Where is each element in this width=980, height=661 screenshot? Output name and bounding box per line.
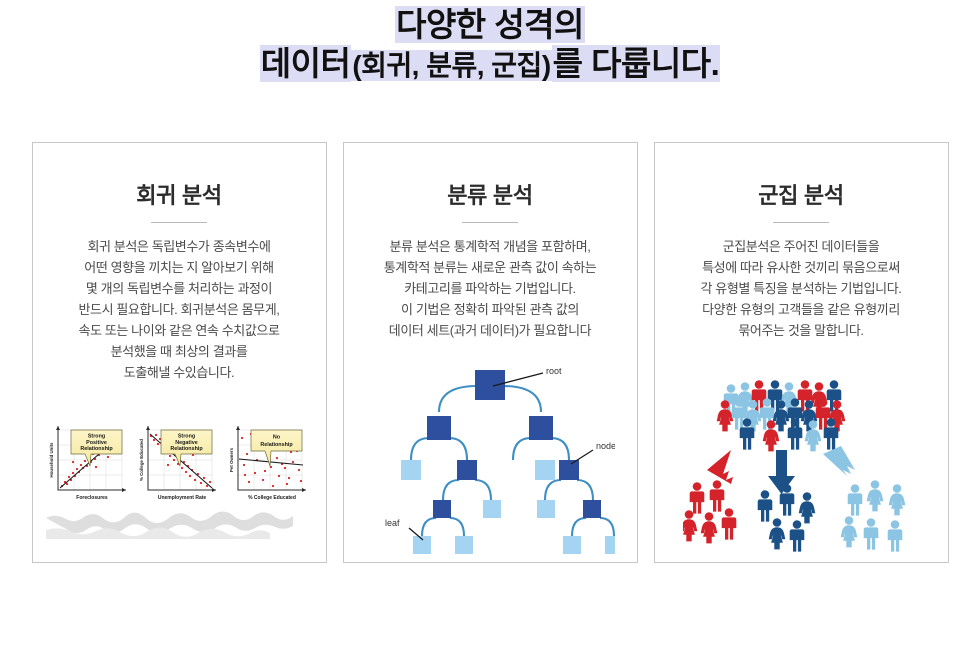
- title-line-2-suffix: 를 다룹니다.: [552, 45, 721, 82]
- svg-text:Positive: Positive: [86, 440, 107, 446]
- svg-text:Negative: Negative: [175, 440, 197, 446]
- card-body-regression: 회귀 분석은 독립변수가 종속변수에 어떤 영향을 끼치는 지 알아보기 위해 …: [64, 236, 293, 383]
- tree-node: [433, 500, 451, 518]
- arrow-red: [707, 450, 733, 484]
- tree-leaf: [455, 536, 473, 554]
- title-line-1: 다양한 성격의: [0, 6, 980, 45]
- tree-node: [457, 460, 477, 480]
- title-line-1-text: 다양한 성격의: [395, 6, 585, 43]
- card-classification-analysis: 분류 분석 분류 분석은 통계학적 개념을 포함하며, 통계학적 분류는 새로운…: [343, 142, 638, 563]
- tree-root-node: [475, 370, 505, 400]
- tree-leaf: [537, 500, 555, 518]
- card-title-cluster: 군집 분석: [758, 178, 844, 210]
- decision-tree-svg: root node leaf: [365, 360, 615, 558]
- title-line-2-parenthetical: (회귀, 분류, 군집): [351, 50, 551, 81]
- tree-node: [583, 500, 601, 518]
- card-divider: [773, 222, 829, 223]
- tree-label-root: root: [546, 366, 562, 376]
- mixed-crowd-group: [717, 380, 846, 451]
- card-divider: [151, 222, 207, 223]
- regression-scatter-plots-figure: Strong Positive Relationship Foreclosure…: [33, 410, 326, 552]
- arrow-light-blue: [823, 446, 855, 476]
- cluster-arrows: [707, 446, 855, 494]
- cluster-light-blue-group: [841, 480, 906, 551]
- tree-node: [427, 416, 451, 440]
- svg-text:Relationship: Relationship: [80, 446, 113, 452]
- cluster-people-svg: [683, 358, 919, 558]
- tree-node: [529, 416, 553, 440]
- tree-node: [559, 460, 579, 480]
- cluster-dark-blue-group: [758, 484, 816, 551]
- title-line-2-data-word: 데이터: [260, 45, 352, 82]
- svg-text:Relationship: Relationship: [260, 442, 293, 448]
- tree-nodes: [427, 370, 601, 518]
- decision-tree-figure: root node leaf: [344, 360, 637, 558]
- svg-text:% College Educated: % College Educated: [139, 439, 144, 481]
- card-cluster-analysis: 군집 분석 군집분석은 주어진 데이터들을 특성에 따라 유사한 것끼리 묶음으…: [654, 142, 949, 563]
- svg-text:Strong: Strong: [88, 434, 105, 440]
- tree-label-node: node: [596, 441, 615, 451]
- cluster-red-group: [683, 480, 736, 543]
- svg-text:Household Units: Household Units: [49, 442, 54, 477]
- svg-text:% College Educated: % College Educated: [248, 495, 296, 501]
- card-divider: [462, 222, 518, 223]
- cluster-people-figure: [655, 358, 948, 558]
- svg-text:Relationship: Relationship: [170, 446, 203, 452]
- card-regression-analysis: 회귀 분석 회귀 분석은 독립변수가 종속변수에 어떤 영향을 끼치는 지 알아…: [32, 142, 327, 563]
- tree-leaf: [535, 460, 555, 480]
- tree-label-leaf: leaf: [385, 518, 400, 528]
- card-body-cluster: 군집분석은 주어진 데이터들을 특성에 따라 유사한 것끼리 묶음으로써 각 유…: [686, 236, 915, 341]
- title-line-2: 데이터(회귀, 분류, 군집)를 다룹니다.: [0, 45, 980, 84]
- analysis-cards-row: 회귀 분석 회귀 분석은 독립변수가 종속변수에 어떤 영향을 끼치는 지 알아…: [0, 142, 980, 564]
- svg-text:Strong: Strong: [178, 434, 195, 440]
- svg-text:Unemployment Rate: Unemployment Rate: [158, 495, 207, 501]
- card-title-regression: 회귀 분석: [136, 178, 222, 210]
- tree-leaf: [483, 500, 501, 518]
- regression-scatter-svg: Strong Positive Relationship Foreclosure…: [38, 410, 320, 552]
- page-title: 다양한 성격의 데이터(회귀, 분류, 군집)를 다룹니다.: [0, 0, 980, 84]
- tree-leaf: [563, 536, 581, 554]
- svg-text:No: No: [273, 435, 281, 441]
- svg-text:Foreclosures: Foreclosures: [76, 495, 108, 501]
- svg-text:Pet Owners: Pet Owners: [229, 447, 234, 472]
- tree-leaf: [401, 460, 421, 480]
- card-body-classification: 분류 분석은 통계학적 개념을 포함하며, 통계학적 분류는 새로운 관측 값이…: [370, 236, 611, 341]
- tree-leaf: [605, 536, 615, 554]
- card-title-classification: 분류 분석: [447, 178, 533, 210]
